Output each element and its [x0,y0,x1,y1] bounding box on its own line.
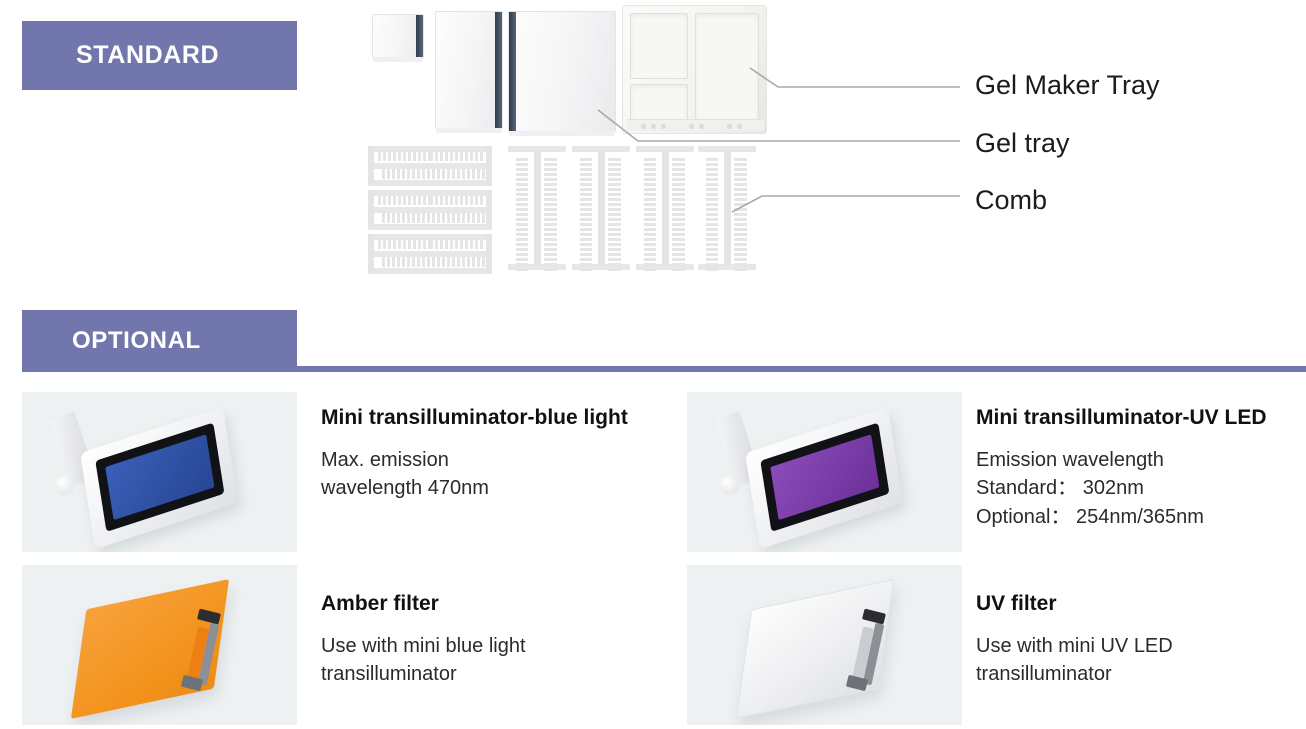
comb-spine [724,152,731,264]
tray-edge-icon [495,12,502,128]
callout-label-gel-tray: Gel tray [975,128,1070,159]
amber-filter-icon [22,565,297,725]
comb-bar [368,268,492,274]
comb-teeth [382,257,490,267]
comb-vertical [636,146,694,270]
comb-teeth [516,218,528,271]
device-screen-bezel [760,423,889,532]
device-screen-blue [105,434,214,520]
item-text-block: Mini transilluminator-UV LED Emission wa… [976,406,1306,531]
comb-teeth [382,169,490,179]
gel-maker-compartment [630,13,688,79]
comb-teeth [706,158,718,226]
comb-teeth [378,240,431,249]
optional-section-divider [297,366,1306,372]
comb-post [368,190,374,228]
leader-line-gel-maker-tray [750,68,960,87]
comb-spine [598,152,605,264]
base-dot-icon [699,124,704,129]
item-description: Use with mini blue light transilluminato… [321,632,671,689]
item-text-block: Amber filter Use with mini blue light tr… [321,592,671,689]
base-dot-icon [651,124,656,129]
gel-tray-large [508,11,616,132]
tray-edge-icon [509,12,516,131]
comb-teeth [608,158,621,271]
callout-label-gel-maker-tray: Gel Maker Tray [975,70,1160,101]
comb-vertical [508,146,566,270]
item-description: Emission wavelength Standard： 302nm Opti… [976,446,1306,531]
item-description: Max. emission wavelength 470nm [321,446,671,503]
comb-teeth [382,213,490,223]
gel-maker-base [627,119,764,131]
base-dot-icon [737,124,742,129]
comb-teeth [734,158,747,271]
comb-teeth [644,158,656,226]
comb-teeth [706,218,718,271]
item-text-block: Mini transilluminator-blue light Max. em… [321,406,671,503]
device-knob [55,476,74,495]
comb-teeth [378,196,431,205]
comb-vertical [698,146,756,270]
device-body [745,407,903,549]
device-knob [720,476,739,495]
standard-parts-illustration [360,0,780,285]
comb-post [368,146,374,184]
comb-teeth [430,240,483,249]
standard-banner-label: STANDARD [76,41,219,70]
tray-edge-icon [416,15,423,57]
comb-teeth [430,152,483,161]
optional-section-banner: OPTIONAL [22,310,297,372]
item-description: Use with mini UV LED transilluminator [976,632,1306,689]
item-title: Amber filter [321,592,671,616]
item-title: Mini transilluminator-UV LED [976,406,1306,430]
comb-teeth [580,158,592,226]
base-dot-icon [727,124,732,129]
comb-teeth [544,158,557,271]
comb-teeth [516,158,528,226]
device-screen-uv [770,434,879,520]
gel-tray-medium [435,11,503,129]
device-body [80,407,238,549]
device-screen-bezel [95,423,224,532]
comb-horizontal [368,234,492,272]
comb-horizontal [368,190,492,228]
transilluminator-uv-icon [687,392,962,552]
item-text-block: UV filter Use with mini UV LED transillu… [976,592,1306,689]
gel-tray-small [372,14,424,58]
base-dot-icon [689,124,694,129]
comb-bar [368,180,492,186]
gel-maker-compartment [695,13,759,120]
item-title: Mini transilluminator-blue light [321,406,671,430]
base-dot-icon [661,124,666,129]
optional-banner-label: OPTIONAL [72,327,201,355]
callout-label-comb: Comb [975,185,1047,216]
comb-teeth [644,218,656,271]
comb-teeth [672,158,685,271]
comb-post [368,234,374,272]
comb-teeth [430,196,483,205]
comb-vertical [572,146,630,270]
standard-section-banner: STANDARD [22,21,297,90]
comb-horizontal [368,146,492,184]
comb-teeth [378,152,431,161]
comb-spine [534,152,541,264]
comb-teeth [580,218,592,271]
product-spec-sheet: STANDARD [0,0,1306,729]
transilluminator-blue-icon [22,392,297,552]
item-title: UV filter [976,592,1306,616]
uv-filter-icon [687,565,962,725]
base-dot-icon [641,124,646,129]
comb-bar [368,224,492,230]
gel-maker-compartment [630,84,688,120]
gel-maker-tray-illustration [622,5,767,134]
comb-spine [662,152,669,264]
